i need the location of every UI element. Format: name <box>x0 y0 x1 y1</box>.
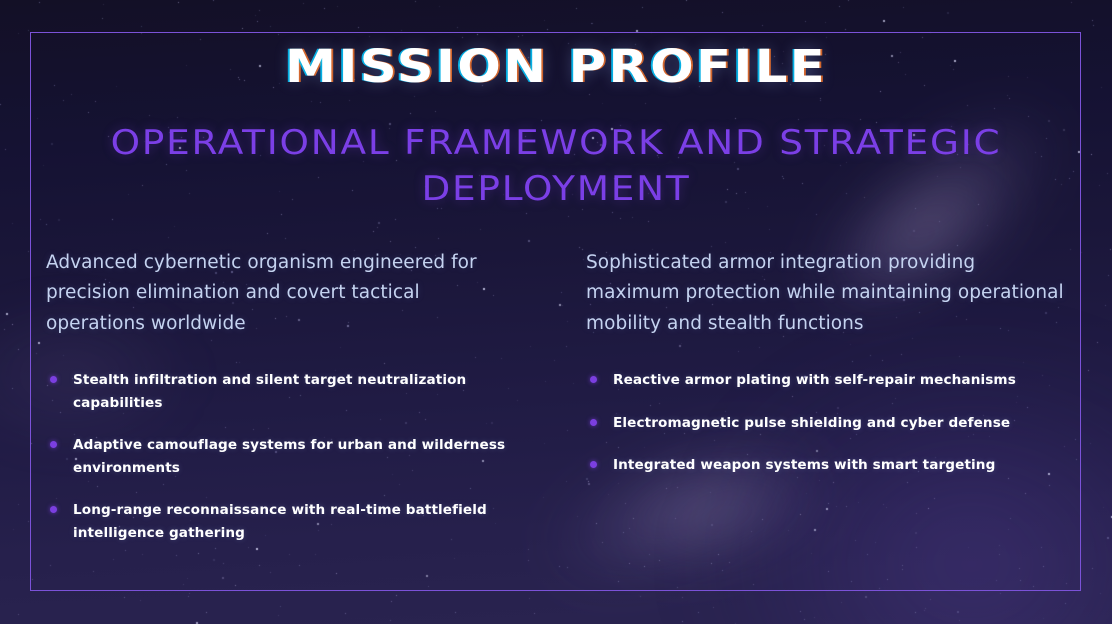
bullet-dot-icon <box>590 419 597 426</box>
list-item: Integrated weapon systems with smart tar… <box>586 454 1066 477</box>
column-right-bullet-list: Reactive armor plating with self-repair … <box>586 369 1066 477</box>
bullet-dot-icon <box>50 376 57 383</box>
bullet-dot-icon <box>50 506 57 513</box>
column-right: Sophisticated armor integration providin… <box>586 248 1066 544</box>
list-item-label: Electromagnetic pulse shielding and cybe… <box>613 415 1010 431</box>
page-title: MISSION PROFILE <box>0 44 1112 89</box>
slide-content: MISSION PROFILE OPERATIONAL FRAMEWORK AN… <box>0 0 1112 624</box>
list-item-label: Adaptive camouflage systems for urban an… <box>73 437 505 476</box>
list-item: Electromagnetic pulse shielding and cybe… <box>586 412 1066 435</box>
column-left: Advanced cybernetic organism engineered … <box>46 248 518 544</box>
list-item: Long-range reconnaissance with real-time… <box>46 499 518 544</box>
bullet-dot-icon <box>590 461 597 468</box>
column-left-bullet-list: Stealth infiltration and silent target n… <box>46 369 518 544</box>
list-item-label: Integrated weapon systems with smart tar… <box>613 457 995 473</box>
column-left-intro: Advanced cybernetic organism engineered … <box>46 248 518 339</box>
page-subtitle: OPERATIONAL FRAMEWORK AND STRATEGIC DEPL… <box>50 120 1062 212</box>
column-right-intro: Sophisticated armor integration providin… <box>586 248 1066 339</box>
list-item-label: Stealth infiltration and silent target n… <box>73 372 466 411</box>
bullet-dot-icon <box>50 441 57 448</box>
list-item-label: Long-range reconnaissance with real-time… <box>73 502 487 541</box>
slide-root: MISSION PROFILE OPERATIONAL FRAMEWORK AN… <box>0 0 1112 624</box>
list-item-label: Reactive armor plating with self-repair … <box>613 372 1016 388</box>
list-item: Adaptive camouflage systems for urban an… <box>46 434 518 479</box>
bullet-dot-icon <box>590 376 597 383</box>
columns-container: Advanced cybernetic organism engineered … <box>46 248 1066 544</box>
list-item: Reactive armor plating with self-repair … <box>586 369 1066 392</box>
list-item: Stealth infiltration and silent target n… <box>46 369 518 414</box>
